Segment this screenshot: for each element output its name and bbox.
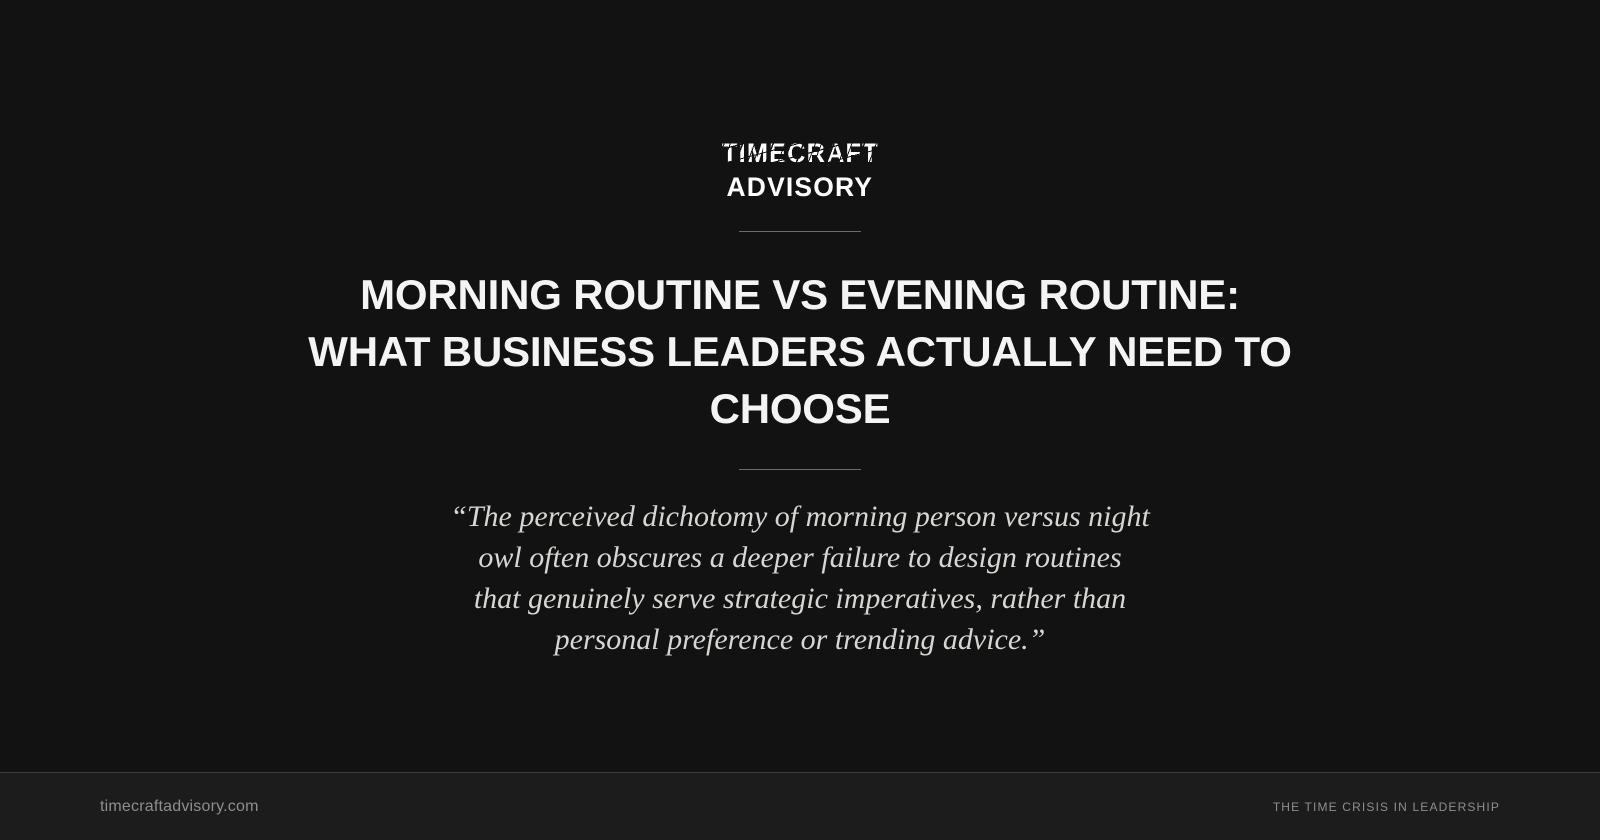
page-title-line-3: CHOOSE: [270, 380, 1330, 437]
pull-quote-line-3: that genuinely serve strategic imperativ…: [370, 578, 1230, 619]
divider-under-title: [739, 469, 861, 470]
slide-footer: timecraftadvisory.com THE TIME CRISIS IN…: [0, 772, 1600, 840]
divider-under-logo: [739, 231, 861, 232]
page-title-line-2: WHAT BUSINESS LEADERS ACTUALLY NEED TO: [270, 323, 1330, 380]
brand-logo: TIMECRAFT ADVISORY: [717, 140, 884, 201]
brand-logo-line-primary: TIMECRAFT: [722, 140, 879, 167]
brand-logo-line-secondary: ADVISORY: [727, 174, 874, 201]
footer-section-label: THE TIME CRISIS IN LEADERSHIP: [1273, 800, 1500, 814]
pull-quote: “The perceived dichotomy of morning pers…: [370, 496, 1230, 660]
title-slide: TIMECRAFT ADVISORY MORNING ROUTINE VS EV…: [0, 0, 1600, 840]
pull-quote-line-2: owl often obscures a deeper failure to d…: [370, 537, 1230, 578]
page-title: MORNING ROUTINE VS EVENING ROUTINE: WHAT…: [270, 266, 1330, 437]
pull-quote-line-1: “The perceived dichotomy of morning pers…: [370, 496, 1230, 537]
slide-content: TIMECRAFT ADVISORY MORNING ROUTINE VS EV…: [0, 0, 1600, 772]
footer-website: timecraftadvisory.com: [100, 798, 259, 816]
pull-quote-line-4: personal preference or trending advice.”: [370, 619, 1230, 660]
page-title-line-1: MORNING ROUTINE VS EVENING ROUTINE:: [270, 266, 1330, 323]
